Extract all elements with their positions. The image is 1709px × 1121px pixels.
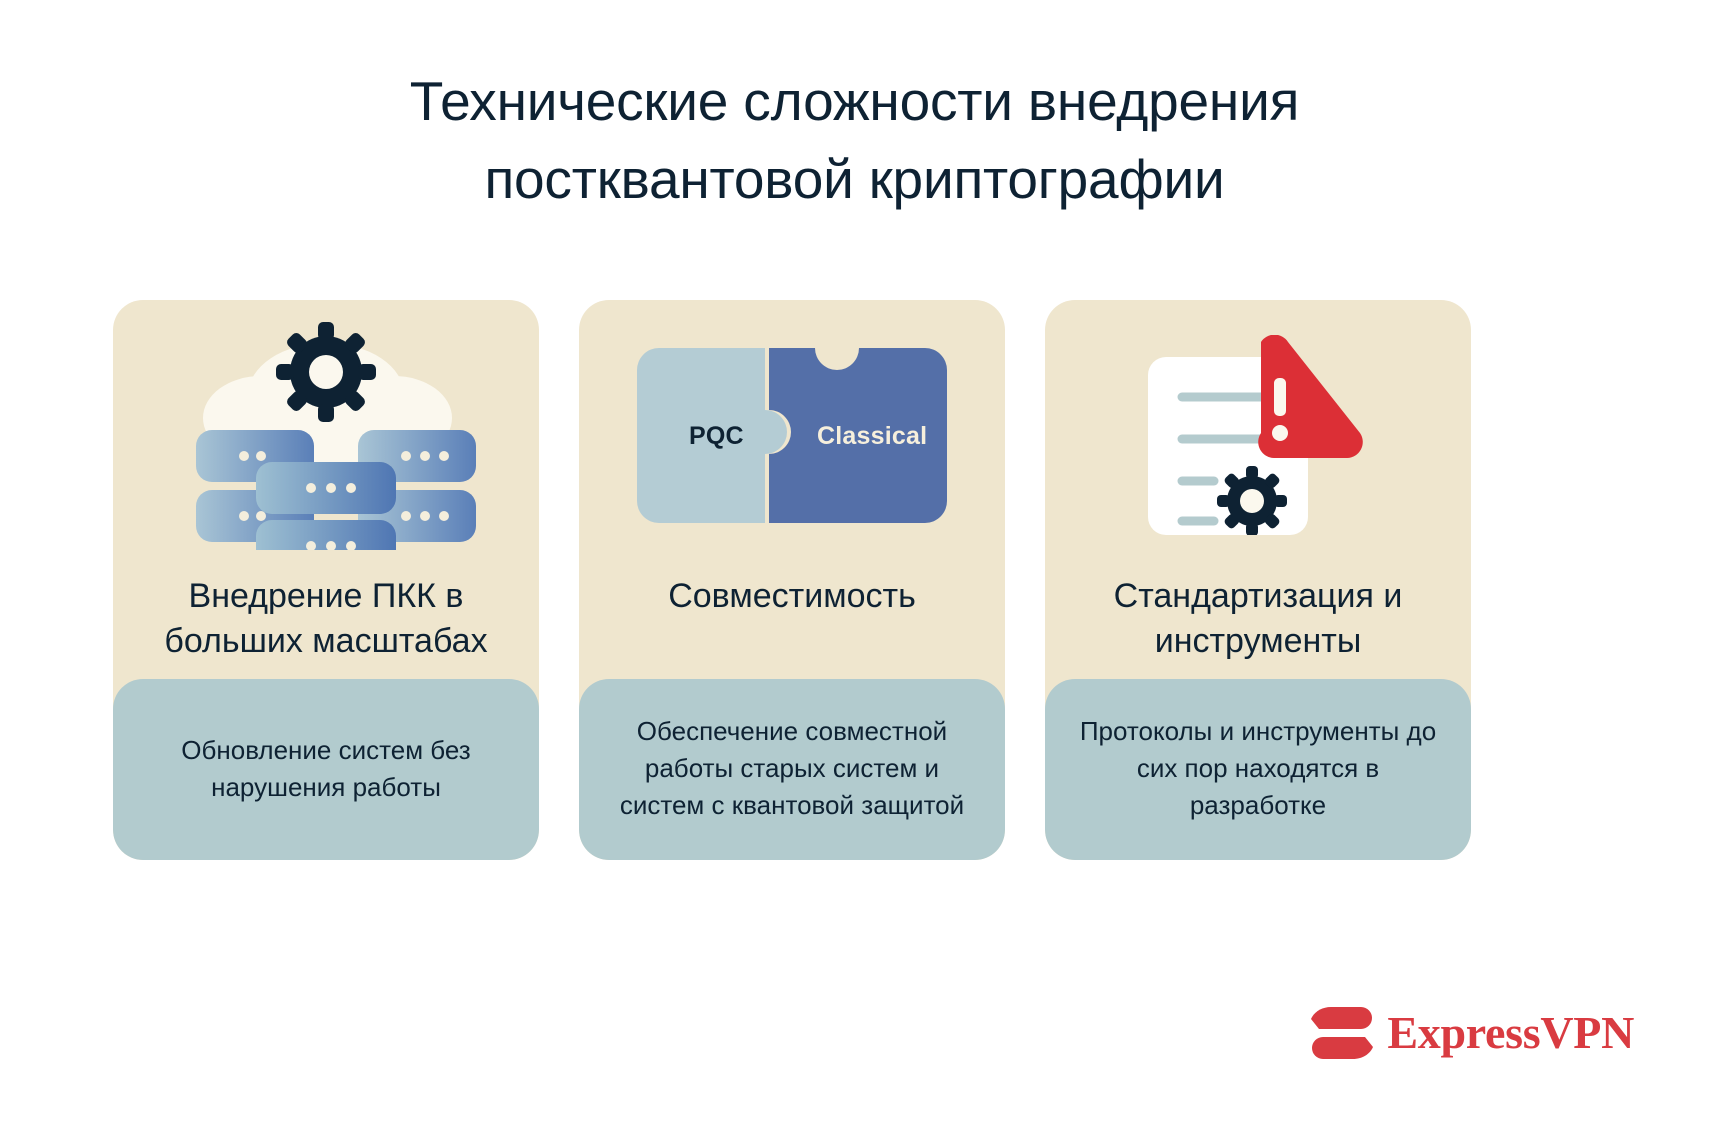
card-note-text: Протоколы и инструменты до сих пор наход… [1071, 713, 1445, 824]
card-heading: Стандартизация и инструменты [1045, 570, 1471, 679]
card-scaling-pqc: Внедрение ПКК в больших масштабах Обновл… [113, 300, 539, 860]
document-gear-warning-icon [1148, 335, 1368, 535]
card-note: Протоколы и инструменты до сих пор наход… [1045, 679, 1471, 860]
card-standardization-tooling: Стандартизация и инструменты Протоколы и… [1045, 300, 1471, 860]
expressvpn-logo-mark [1311, 1007, 1373, 1059]
puzzle-piece-left [637, 348, 787, 523]
card-heading-text: Совместимость [668, 574, 916, 619]
cards-row: Внедрение ПКК в больших масштабах Обновл… [113, 300, 1471, 860]
card-heading: Совместимость [579, 570, 1005, 679]
warning-triangle-icon [1258, 335, 1363, 458]
expressvpn-logo-text: ExpressVPN [1387, 1010, 1634, 1056]
card-1-icon-area [113, 300, 539, 570]
gear-icon [276, 322, 376, 422]
cloud-servers-gear-icon [176, 320, 476, 550]
puzzle-piece-right [769, 348, 947, 523]
infographic-canvas: Технические сложности внедрения посткван… [0, 0, 1709, 1121]
card-note-text: Обновление систем без нарушения работы [139, 732, 513, 806]
card-heading: Внедрение ПКК в больших масштабах [113, 570, 539, 679]
puzzle-pieces-icon: PQC Classical [637, 348, 947, 523]
card-note: Обновление систем без нарушения работы [113, 679, 539, 860]
expressvpn-logo: ExpressVPN [1311, 1007, 1634, 1059]
card-heading-text: Внедрение ПКК в больших масштабах [139, 574, 513, 664]
page-title: Технические сложности внедрения посткван… [0, 62, 1709, 218]
card-3-icon-area [1045, 300, 1471, 570]
card-heading-text: Стандартизация и инструменты [1071, 574, 1445, 664]
card-2-icon-area: PQC Classical [579, 300, 1005, 570]
card-note: Обеспечение совместной работы старых сис… [579, 679, 1005, 860]
card-note-text: Обеспечение совместной работы старых сис… [605, 713, 979, 824]
card-interoperability: PQC Classical Совместимость Обеспечение … [579, 300, 1005, 860]
gear-icon [1217, 466, 1287, 535]
